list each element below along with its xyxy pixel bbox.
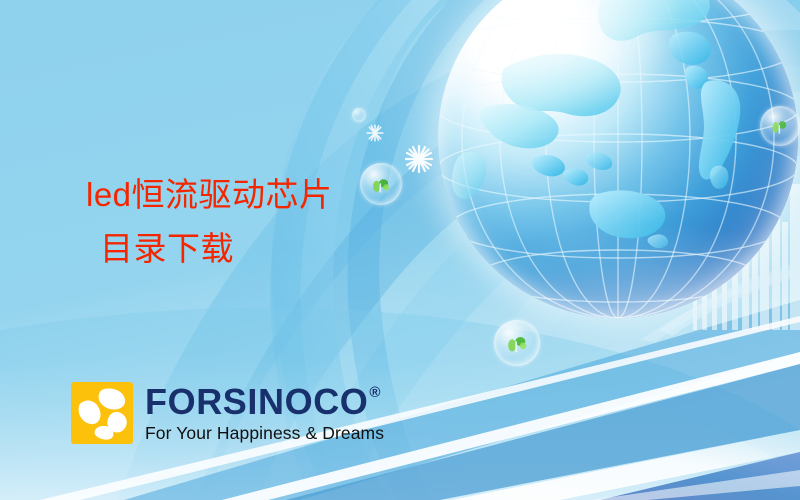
sprout-icon <box>770 118 789 135</box>
sprout-icon <box>506 334 528 353</box>
headline-line-1: led恒流驱动芯片 <box>86 176 333 213</box>
globe-rim <box>438 0 798 318</box>
globe-surface <box>438 0 798 318</box>
brand-name: FORSINOCO <box>145 384 368 420</box>
city-skyline-icon <box>640 170 800 342</box>
headline-line-2: 目录下载 <box>86 222 333 276</box>
brand-logo: FORSINOCO ® For Your Happiness & Dreams <box>71 382 384 444</box>
bubble-with-sprout-icon <box>360 163 402 205</box>
bubble-with-sprout-icon <box>494 320 540 366</box>
page-title: led恒流驱动芯片 目录下载 <box>86 168 333 276</box>
banner-image: led恒流驱动芯片 目录下载 FORSINOCO ® For Your Happ… <box>0 0 800 500</box>
pinwheel-petals <box>71 382 133 444</box>
starburst-sparkle-icon <box>404 144 434 174</box>
earth-globe-icon <box>438 0 798 318</box>
bubble-with-sprout-icon <box>760 106 800 146</box>
sprout-icon <box>371 176 391 194</box>
starburst-sparkle-icon <box>366 124 384 142</box>
bubble-small-icon <box>352 108 366 122</box>
globe-gloss <box>438 0 798 318</box>
brand-tagline: For Your Happiness & Dreams <box>145 423 384 444</box>
registered-trademark-icon: ® <box>369 385 380 400</box>
four-petal-pinwheel-icon <box>71 382 133 444</box>
